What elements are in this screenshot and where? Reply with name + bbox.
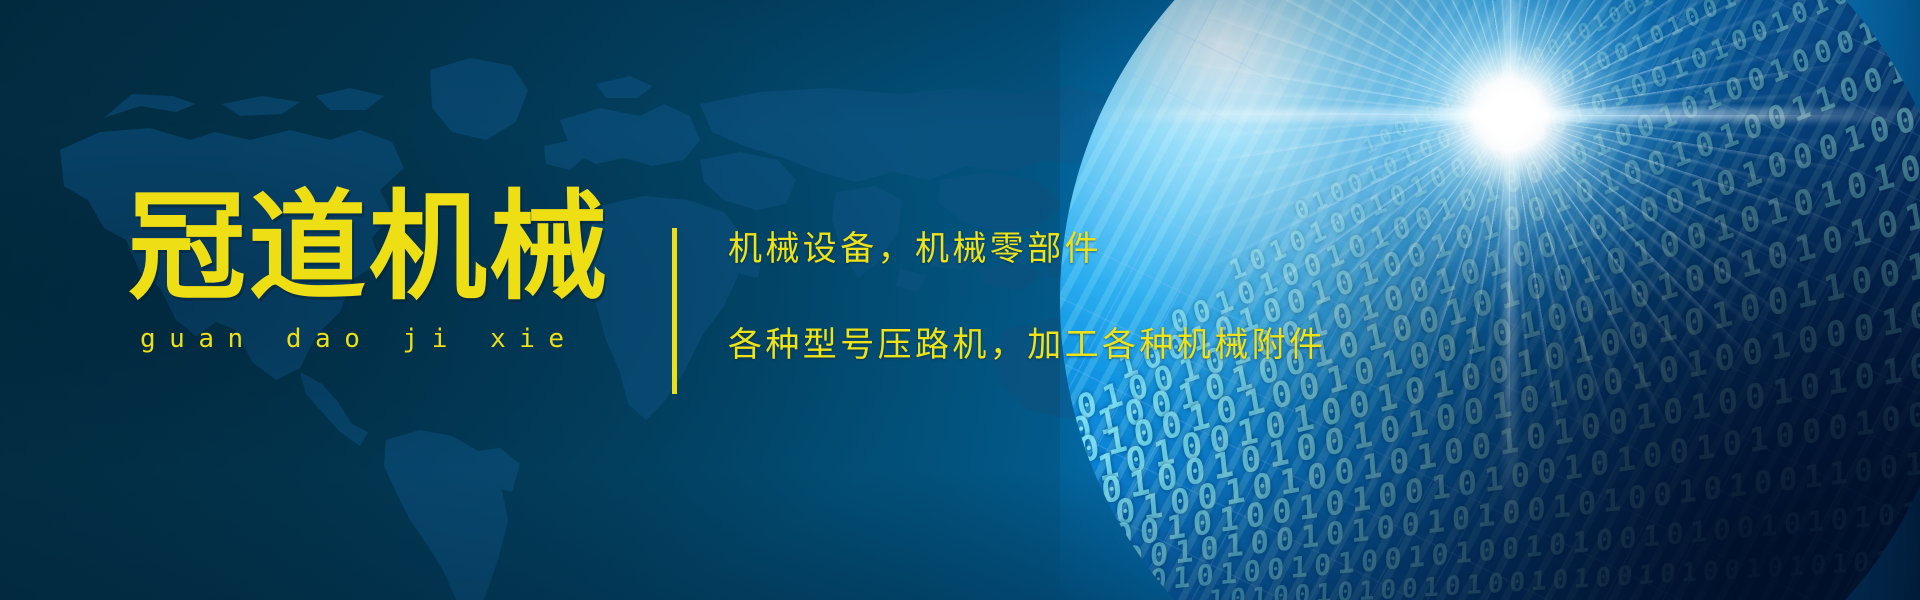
company-logo[interactable]: 冠道机械 guan dao ji xie	[128, 188, 638, 354]
company-name-chinese: 冠道机械	[128, 188, 638, 306]
banner-content: 冠道机械 guan dao ji xie 机械设备，机械零部件 各种型号压路机，…	[0, 0, 1920, 600]
tagline-list: 机械设备，机械零部件 各种型号压路机，加工各种机械附件	[728, 232, 1326, 362]
tagline-secondary: 各种型号压路机，加工各种机械附件	[728, 328, 1326, 362]
company-name-pinyin: guan dao ji xie	[128, 324, 638, 354]
vertical-divider	[672, 228, 677, 394]
tagline-primary: 机械设备，机械零部件	[728, 232, 1326, 266]
promotional-banner: 1001010010100101001010010100110010100101…	[0, 0, 1920, 600]
